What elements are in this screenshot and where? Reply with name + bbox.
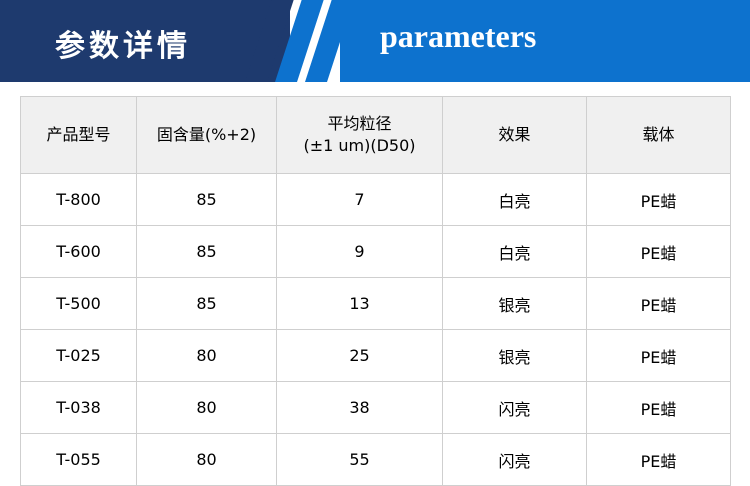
- parameters-table-container: 产品型号 固含量(%+2) 平均粒径 (±1 um)(D50) 效果 载体 T-…: [0, 82, 750, 486]
- table-cell-effect: 白亮: [443, 174, 587, 226]
- table-header-effect: 效果: [443, 97, 587, 174]
- table-header-solid-content: 固含量(%+2): [137, 97, 277, 174]
- table-header-carrier: 载体: [587, 97, 731, 174]
- table-cell-solid-content: 85: [137, 278, 277, 330]
- banner-title-chinese: 参数详情: [55, 21, 191, 65]
- table-cell-effect: 白亮: [443, 226, 587, 278]
- table-row: T-500 85 13 银亮 PE蜡: [21, 278, 731, 330]
- table-row: T-600 85 9 白亮 PE蜡: [21, 226, 731, 278]
- table-cell-effect: 银亮: [443, 330, 587, 382]
- page-header-banner: 参数详情 parameters: [0, 0, 750, 82]
- table-header-particle-size: 平均粒径 (±1 um)(D50): [277, 97, 443, 174]
- table-cell-particle-size: 9: [277, 226, 443, 278]
- table-cell-carrier: PE蜡: [587, 434, 731, 486]
- table-cell-particle-size: 38: [277, 382, 443, 434]
- table-cell-solid-content: 85: [137, 174, 277, 226]
- table-cell-model: T-038: [21, 382, 137, 434]
- banner-title-english: parameters: [380, 18, 536, 55]
- table-cell-particle-size: 13: [277, 278, 443, 330]
- table-cell-effect: 银亮: [443, 278, 587, 330]
- table-cell-carrier: PE蜡: [587, 226, 731, 278]
- table-row: T-055 80 55 闪亮 PE蜡: [21, 434, 731, 486]
- table-cell-particle-size: 55: [277, 434, 443, 486]
- table-cell-solid-content: 85: [137, 226, 277, 278]
- table-header-particle-size-line2: (±1 um)(D50): [278, 135, 441, 157]
- table-cell-carrier: PE蜡: [587, 278, 731, 330]
- table-header: 产品型号 固含量(%+2) 平均粒径 (±1 um)(D50) 效果 载体: [21, 97, 731, 174]
- table-cell-solid-content: 80: [137, 434, 277, 486]
- table-cell-model: T-600: [21, 226, 137, 278]
- table-row: T-038 80 38 闪亮 PE蜡: [21, 382, 731, 434]
- table-row: T-800 85 7 白亮 PE蜡: [21, 174, 731, 226]
- table-header-particle-size-line1: 平均粒径: [278, 113, 441, 135]
- table-cell-particle-size: 7: [277, 174, 443, 226]
- table-body: T-800 85 7 白亮 PE蜡 T-600 85 9 白亮 PE蜡 T-50…: [21, 174, 731, 486]
- table-cell-solid-content: 80: [137, 330, 277, 382]
- table-cell-carrier: PE蜡: [587, 382, 731, 434]
- table-cell-carrier: PE蜡: [587, 330, 731, 382]
- table-header-row: 产品型号 固含量(%+2) 平均粒径 (±1 um)(D50) 效果 载体: [21, 97, 731, 174]
- table-cell-model: T-800: [21, 174, 137, 226]
- table-cell-effect: 闪亮: [443, 382, 587, 434]
- table-cell-model: T-500: [21, 278, 137, 330]
- table-cell-carrier: PE蜡: [587, 174, 731, 226]
- table-cell-effect: 闪亮: [443, 434, 587, 486]
- table-row: T-025 80 25 银亮 PE蜡: [21, 330, 731, 382]
- table-cell-model: T-055: [21, 434, 137, 486]
- parameters-table: 产品型号 固含量(%+2) 平均粒径 (±1 um)(D50) 效果 载体 T-…: [20, 96, 731, 486]
- table-header-product-model: 产品型号: [21, 97, 137, 174]
- table-cell-solid-content: 80: [137, 382, 277, 434]
- table-cell-model: T-025: [21, 330, 137, 382]
- table-cell-particle-size: 25: [277, 330, 443, 382]
